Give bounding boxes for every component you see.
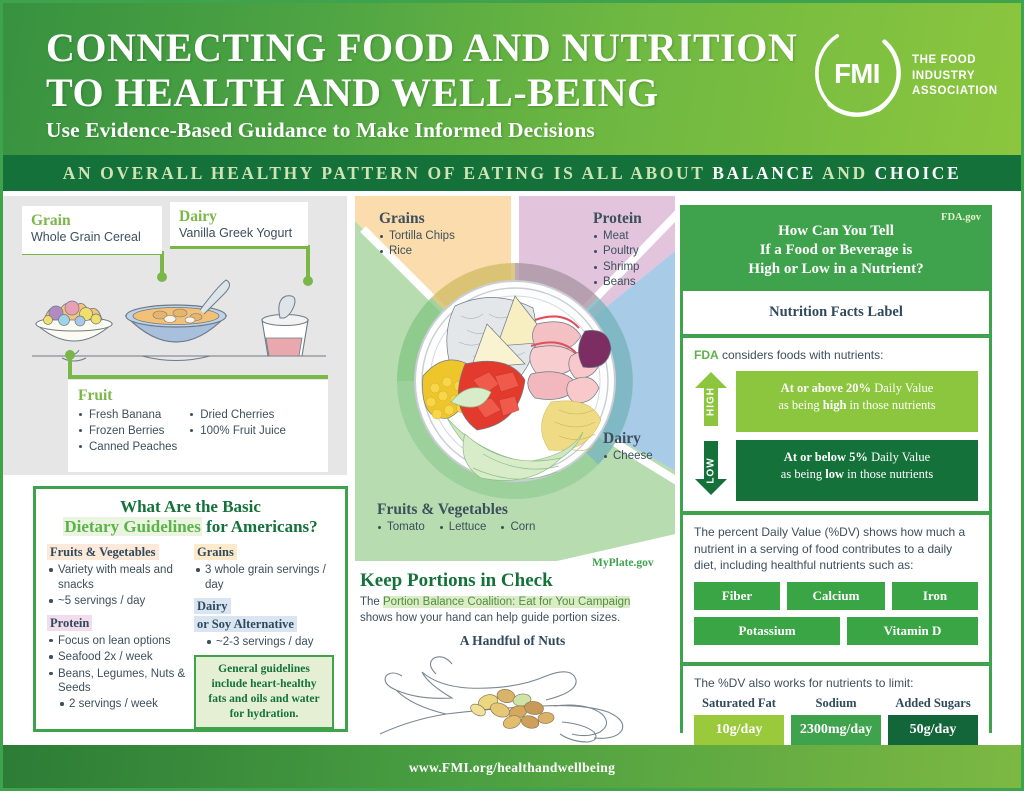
fda-gov-source: FDA.gov bbox=[941, 212, 981, 223]
fmi-logo-icon: FMI bbox=[808, 24, 906, 122]
nutrient-panel-header: FDA.gov How Can You Tell If a Food or Be… bbox=[683, 208, 989, 291]
nutrient-chip-calcium: Calcium bbox=[787, 582, 885, 610]
dg-list-protein: Focus on lean options Seafood 2x / week … bbox=[47, 634, 186, 712]
myplate-fv-label: Fruits & Vegetables bbox=[377, 501, 535, 519]
high-arrow-wrap: HIGH bbox=[694, 371, 728, 432]
daily-value-explanation: The percent Daily Value (%DV) shows how … bbox=[694, 524, 978, 574]
dg-general-note: General guidelines include heart-healthy… bbox=[194, 655, 334, 730]
high-message: At or above 20% Daily Value as being hig… bbox=[736, 371, 978, 432]
band-emphasis-choice: CHOICE bbox=[875, 163, 962, 183]
limit-value: 2300mg/day bbox=[791, 715, 881, 745]
band-mid: AND bbox=[816, 163, 875, 183]
list-item: ~5 servings / day bbox=[47, 594, 186, 608]
myplate-category-dairy: Dairy Cheese bbox=[603, 430, 653, 464]
list-item: Corn bbox=[500, 520, 535, 536]
low-line-1-rest: Daily Value bbox=[868, 450, 930, 464]
myplate-grains-label: Grains bbox=[379, 210, 455, 228]
high-arrow-label: HIGH bbox=[681, 385, 742, 419]
page-subtitle: Use Evidence-Based Guidance to Make Info… bbox=[46, 118, 826, 143]
high-line-2: as being high in those nutrients bbox=[744, 397, 970, 414]
low-arrow-wrap: LOW bbox=[694, 440, 728, 501]
dg-column-left: Fruits & Vegetables Variety with meals a… bbox=[47, 543, 186, 729]
dairy-label: Dairy bbox=[179, 208, 299, 226]
list-item: Cheese bbox=[603, 449, 653, 465]
kp-body-pre: The bbox=[360, 596, 383, 608]
dg-heading-dairy-alt: or Soy Alternative bbox=[194, 616, 297, 632]
hand-with-nuts-illustration bbox=[358, 648, 668, 744]
high-threshold-row: HIGH At or above 20% Daily Value as bein… bbox=[694, 371, 978, 432]
grain-callout-card: Grain Whole Grain Cereal bbox=[22, 206, 162, 254]
list-item: 100% Fruit Juice bbox=[189, 423, 286, 439]
low-threshold-row: LOW At or below 5% Daily Value as being … bbox=[694, 440, 978, 501]
nutrient-limits-grid: Saturated Fat 10g/day Sodium 2300mg/day … bbox=[694, 696, 978, 745]
limit-sodium: Sodium 2300mg/day bbox=[791, 696, 881, 745]
list-item: Beans, Legumes, Nuts & Seeds bbox=[47, 667, 186, 696]
dg-list-grains: 3 whole grain servings / day bbox=[194, 563, 334, 592]
myplate-protein-label: Protein bbox=[593, 210, 642, 228]
list-item: Seafood 2x / week bbox=[47, 650, 186, 664]
nutrient-title-line-3: High or Low in a Nutrient? bbox=[693, 260, 979, 279]
myplate-grains-list: Tortilla Chips Rice bbox=[379, 229, 455, 260]
logo-text-line-3: ASSOCIATION bbox=[912, 84, 998, 100]
nutrient-chip-iron: Iron bbox=[892, 582, 978, 610]
dg-column-right: Grains 3 whole grain servings / day Dair… bbox=[194, 543, 334, 729]
footer-bar: www.FMI.org/healthandwellbeing bbox=[0, 745, 1024, 791]
title-line-1: CONNECTING FOOD AND NUTRITION bbox=[46, 25, 797, 70]
myplate-category-fruits-vegetables: Fruits & Vegetables Tomato Lettuce Corn bbox=[377, 501, 535, 535]
myplate-protein-list: Meat Poultry Shrimp Beans bbox=[593, 229, 642, 291]
dairy-connector-dot bbox=[303, 276, 313, 286]
low-line-2-pre: as being bbox=[781, 467, 825, 481]
high-line-2-pre: as being bbox=[778, 398, 822, 412]
keep-portions-body: The Portion Balance Coalition: Eat for Y… bbox=[360, 595, 665, 626]
breakfast-foods-illustration bbox=[14, 258, 344, 383]
fda-lead-text: FDA considers foods with nutrients: bbox=[694, 347, 978, 364]
footer-url[interactable]: www.FMI.org/healthandwellbeing bbox=[409, 760, 615, 776]
fruit-items: Fresh Banana Frozen Berries Canned Peach… bbox=[78, 407, 318, 456]
fruit-label: Fruit bbox=[78, 387, 318, 405]
fruit-callout-card: Fruit Fresh Banana Frozen Berries Canned… bbox=[68, 380, 328, 472]
high-line-2-post: in those nutrients bbox=[846, 398, 935, 412]
dg-title-line-1: What Are the Basic bbox=[47, 497, 334, 517]
limit-explanation: The %DV also works for nutrients to limi… bbox=[694, 675, 978, 692]
dietary-guidelines-title: What Are the Basic Dietary Guidelines fo… bbox=[47, 497, 334, 537]
nutrient-title-line-2: If a Food or Beverage is bbox=[693, 241, 979, 260]
fruit-connector-horizontal bbox=[68, 375, 328, 379]
high-threshold-value: At or above 20% bbox=[781, 381, 871, 395]
limit-name: Saturated Fat bbox=[694, 696, 784, 711]
low-arrow-label: LOW bbox=[681, 454, 742, 488]
fruit-column-2: Dried Cherries 100% Fruit Juice bbox=[189, 407, 286, 456]
limit-name: Sodium bbox=[791, 696, 881, 711]
myplate-fv-list: Tomato Lettuce Corn bbox=[377, 520, 535, 536]
band-text: AN OVERALL HEALTHY PATTERN OF EATING IS … bbox=[63, 163, 962, 184]
nutrition-facts-label-heading: Nutrition Facts Label bbox=[687, 295, 985, 330]
list-item: Tortilla Chips bbox=[379, 229, 455, 245]
dg-heading-dairy: Dairy bbox=[194, 598, 231, 614]
grain-label: Grain bbox=[31, 212, 153, 230]
infographic-page: CONNECTING FOOD AND NUTRITION TO HEALTH … bbox=[0, 0, 1024, 791]
low-word: low bbox=[825, 467, 844, 481]
dairy-item: Vanilla Greek Yogurt bbox=[179, 226, 299, 242]
limit-name: Added Sugars bbox=[888, 696, 978, 711]
fda-acronym: FDA bbox=[694, 348, 719, 362]
nutrient-label-panel: FDA.gov How Can You Tell If a Food or Be… bbox=[680, 205, 992, 733]
limit-added-sugars: Added Sugars 50g/day bbox=[888, 696, 978, 745]
high-line-1: At or above 20% Daily Value bbox=[744, 380, 970, 397]
high-word: high bbox=[823, 398, 847, 412]
title-line-2: TO HEALTH AND WELL-BEING bbox=[46, 71, 806, 116]
nutrient-title-line-1: How Can You Tell bbox=[693, 222, 979, 241]
fmi-logo: FMI THE FOOD INDUSTRY ASSOCIATION bbox=[808, 24, 1008, 132]
page-title: CONNECTING FOOD AND NUTRITION TO HEALTH … bbox=[46, 26, 806, 116]
high-line-1-rest: Daily Value bbox=[871, 381, 933, 395]
healthful-nutrients-section: The percent Daily Value (%DV) shows how … bbox=[683, 511, 989, 662]
fmi-logo-tagline: THE FOOD INDUSTRY ASSOCIATION bbox=[912, 53, 998, 100]
fruit-connector-dot bbox=[65, 350, 75, 360]
list-item: Focus on lean options bbox=[47, 634, 186, 648]
list-item: Beans bbox=[593, 275, 642, 291]
dairy-connector-vertical bbox=[306, 245, 310, 280]
nutrient-chip-row-1: Fiber Calcium Iron bbox=[694, 582, 978, 610]
list-item: Frozen Berries bbox=[78, 423, 177, 439]
low-message: At or below 5% Daily Value as being low … bbox=[736, 440, 978, 501]
list-item: Tomato bbox=[377, 520, 425, 536]
list-item: Meat bbox=[593, 229, 642, 245]
list-item: ~2-3 servings / day bbox=[194, 635, 334, 649]
dg-heading-fruits-vegetables: Fruits & Vegetables bbox=[47, 544, 159, 560]
myplate-dairy-label: Dairy bbox=[603, 430, 653, 448]
limit-value: 50g/day bbox=[888, 715, 978, 745]
limit-value: 10g/day bbox=[694, 715, 784, 745]
limit-saturated-fat: Saturated Fat 10g/day bbox=[694, 696, 784, 745]
dairy-callout-card: Dairy Vanilla Greek Yogurt bbox=[170, 202, 308, 246]
fda-thresholds-section: FDA considers foods with nutrients: HIGH… bbox=[683, 334, 989, 512]
list-item: Variety with meals and snacks bbox=[47, 563, 186, 592]
myplate-source-credit: MyPlate.gov bbox=[592, 557, 654, 569]
band-emphasis-balance: BALANCE bbox=[712, 163, 816, 183]
list-item: Dried Cherries bbox=[189, 407, 286, 423]
handful-of-nuts-caption: A Handful of Nuts bbox=[360, 633, 665, 649]
myplate-diagram: Grains Tortilla Chips Rice Protein Meat … bbox=[355, 196, 675, 561]
kp-body-post: shows how your hand can help guide porti… bbox=[360, 612, 620, 624]
list-item: Fresh Banana bbox=[78, 407, 177, 423]
nutrient-chip-fiber: Fiber bbox=[694, 582, 780, 610]
nutrient-panel-title: How Can You Tell If a Food or Beverage i… bbox=[693, 222, 979, 279]
list-item: 2 servings / week bbox=[47, 697, 186, 711]
keep-portions-title: Keep Portions in Check bbox=[360, 570, 553, 592]
header-banner: CONNECTING FOOD AND NUTRITION TO HEALTH … bbox=[0, 0, 1024, 155]
list-item: Shrimp bbox=[593, 260, 642, 276]
myplate-dairy-list: Cheese bbox=[603, 449, 653, 465]
low-line-1: At or below 5% Daily Value bbox=[744, 449, 970, 466]
logo-text-line-1: THE FOOD bbox=[912, 53, 998, 69]
nutrient-chip-row-2: Potassium Vitamin D bbox=[694, 617, 978, 645]
svg-text:FMI: FMI bbox=[834, 58, 880, 89]
dg-title-highlight: Dietary Guidelines bbox=[63, 517, 201, 536]
dg-title-line-2: Dietary Guidelines for Americans? bbox=[47, 517, 334, 537]
dg-heading-protein: Protein bbox=[47, 615, 92, 631]
dietary-guidelines-columns: Fruits & Vegetables Variety with meals a… bbox=[47, 543, 334, 729]
nutrient-chip-vitamin-d: Vitamin D bbox=[847, 617, 978, 645]
band-prefix: AN OVERALL HEALTHY PATTERN OF EATING IS … bbox=[63, 163, 712, 183]
list-item: Poultry bbox=[593, 244, 642, 260]
nutrient-chip-potassium: Potassium bbox=[694, 617, 840, 645]
portion-balance-coalition-link[interactable]: Portion Balance Coalition: Eat for You C… bbox=[383, 596, 630, 608]
dg-list-fruits-vegetables: Variety with meals and snacks ~5 serving… bbox=[47, 563, 186, 608]
list-item: 3 whole grain servings / day bbox=[194, 563, 334, 592]
healthful-nutrient-chips: Fiber Calcium Iron Potassium Vitamin D bbox=[694, 582, 978, 645]
grain-item: Whole Grain Cereal bbox=[31, 230, 153, 246]
low-threshold-value: At or below 5% bbox=[784, 450, 868, 464]
myplate-category-grains: Grains Tortilla Chips Rice bbox=[379, 210, 455, 260]
logo-text-line-2: INDUSTRY bbox=[912, 69, 998, 85]
fda-lead-rest: considers foods with nutrients: bbox=[719, 348, 884, 362]
low-line-2: as being low in those nutrients bbox=[744, 466, 970, 483]
myplate-category-protein: Protein Meat Poultry Shrimp Beans bbox=[593, 210, 642, 291]
dg-heading-grains: Grains bbox=[194, 544, 237, 560]
fruit-column-1: Fresh Banana Frozen Berries Canned Peach… bbox=[78, 407, 177, 456]
dg-list-dairy: ~2-3 servings / day bbox=[194, 635, 334, 649]
grain-connector-dot bbox=[157, 272, 167, 282]
nutrients-to-limit-section: The %DV also works for nutrients to limi… bbox=[683, 662, 989, 756]
balance-choice-band: AN OVERALL HEALTHY PATTERN OF EATING IS … bbox=[0, 155, 1024, 191]
list-item: Rice bbox=[379, 244, 455, 260]
list-item: Canned Peaches bbox=[78, 439, 177, 455]
dietary-guidelines-box: What Are the Basic Dietary Guidelines fo… bbox=[33, 486, 348, 732]
low-line-2-post: in those nutrients bbox=[844, 467, 933, 481]
list-item: Lettuce bbox=[439, 520, 487, 536]
dg-title-rest: for Americans? bbox=[202, 517, 318, 536]
